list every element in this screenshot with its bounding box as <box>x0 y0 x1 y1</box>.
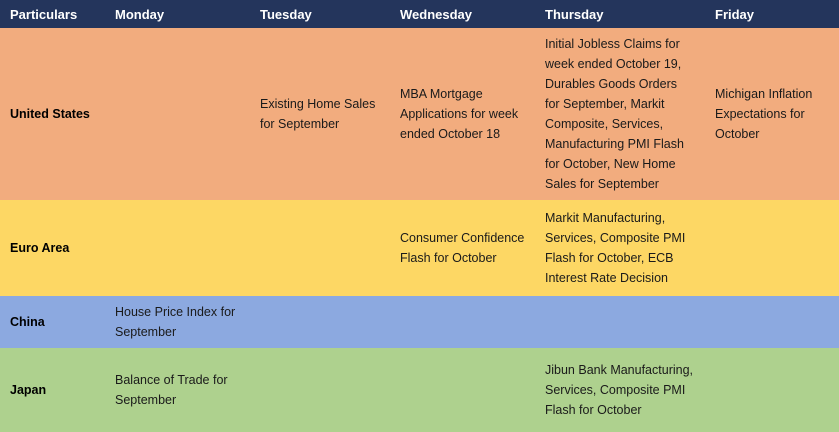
cell-japan-tuesday <box>250 348 390 432</box>
table-body: United States Existing Home Sales for Se… <box>0 28 839 432</box>
cell-japan-thursday: Jibun Bank Manufacturing, Services, Comp… <box>535 348 705 432</box>
column-header-monday: Monday <box>105 0 250 28</box>
region-label-japan: Japan <box>0 348 105 432</box>
cell-euro-area-thursday: Markit Manufacturing, Services, Composit… <box>535 200 705 296</box>
column-header-thursday: Thursday <box>535 0 705 28</box>
cell-china-wednesday <box>390 296 535 348</box>
cell-united-states-monday <box>105 28 250 200</box>
cell-china-thursday <box>535 296 705 348</box>
column-header-friday: Friday <box>705 0 839 28</box>
cell-china-tuesday <box>250 296 390 348</box>
table-row: China House Price Index for September <box>0 296 839 348</box>
region-label-united-states: United States <box>0 28 105 200</box>
region-label-china: China <box>0 296 105 348</box>
column-header-particulars: Particulars <box>0 0 105 28</box>
table-header: Particulars Monday Tuesday Wednesday Thu… <box>0 0 839 28</box>
column-header-wednesday: Wednesday <box>390 0 535 28</box>
cell-china-monday: House Price Index for September <box>105 296 250 348</box>
region-label-euro-area: Euro Area <box>0 200 105 296</box>
cell-euro-area-monday <box>105 200 250 296</box>
cell-united-states-friday: Michigan Inflation Expectations for Octo… <box>705 28 839 200</box>
cell-japan-monday: Balance of Trade for September <box>105 348 250 432</box>
cell-united-states-wednesday: MBA Mortgage Applications for week ended… <box>390 28 535 200</box>
cell-euro-area-wednesday: Consumer Confidence Flash for October <box>390 200 535 296</box>
cell-euro-area-friday <box>705 200 839 296</box>
table-row: United States Existing Home Sales for Se… <box>0 28 839 200</box>
cell-united-states-thursday: Initial Jobless Claims for week ended Oc… <box>535 28 705 200</box>
economic-calendar-table: Particulars Monday Tuesday Wednesday Thu… <box>0 0 839 432</box>
economic-calendar: Particulars Monday Tuesday Wednesday Thu… <box>0 0 839 421</box>
cell-united-states-tuesday: Existing Home Sales for September <box>250 28 390 200</box>
cell-japan-wednesday <box>390 348 535 432</box>
cell-china-friday <box>705 296 839 348</box>
table-row: Euro Area Consumer Confidence Flash for … <box>0 200 839 296</box>
table-header-row: Particulars Monday Tuesday Wednesday Thu… <box>0 0 839 28</box>
column-header-tuesday: Tuesday <box>250 0 390 28</box>
cell-japan-friday <box>705 348 839 432</box>
cell-euro-area-tuesday <box>250 200 390 296</box>
table-row: Japan Balance of Trade for September Jib… <box>0 348 839 432</box>
